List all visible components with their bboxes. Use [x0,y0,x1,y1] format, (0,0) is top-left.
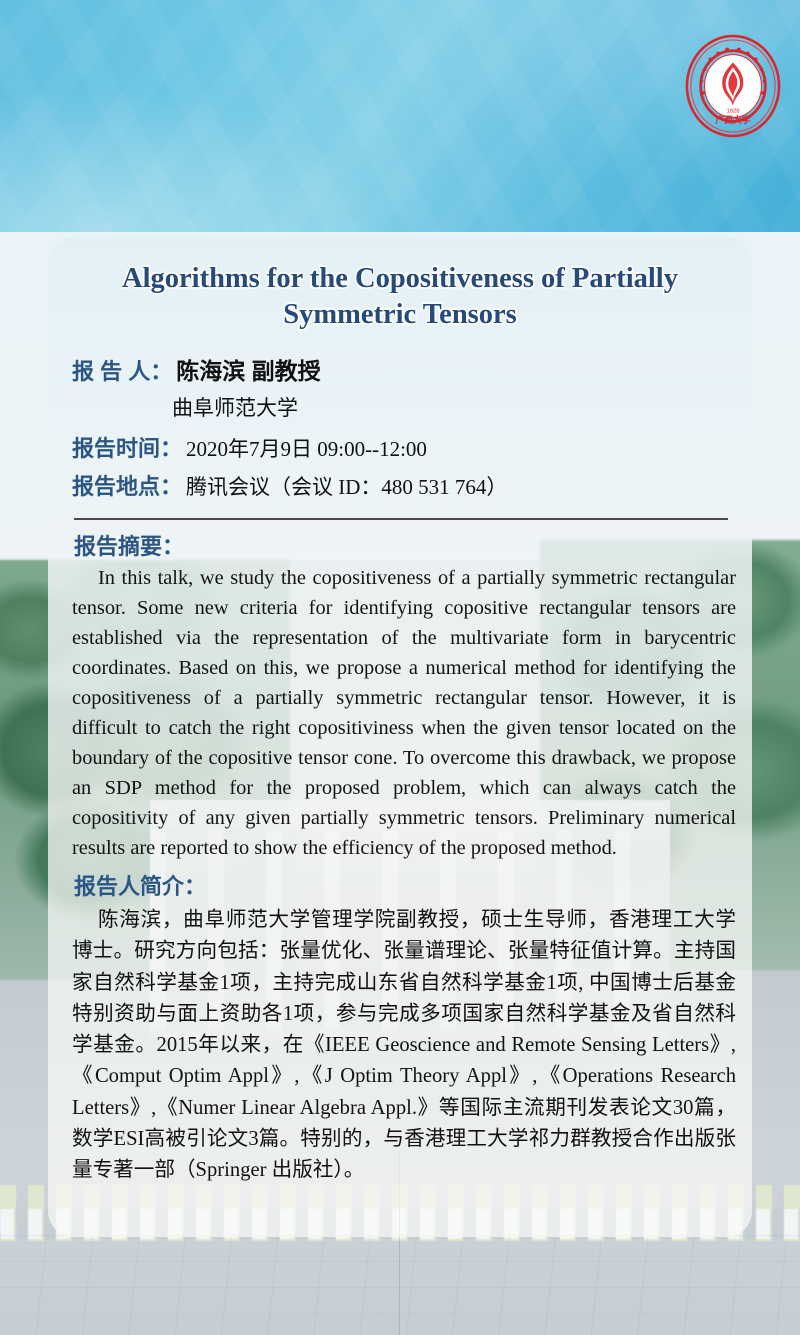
section-divider [74,518,728,520]
time-label: 报告时间： [72,431,182,463]
svg-text:1928: 1928 [726,108,740,114]
speaker-row: 报 告 人： 陈海滨 副教授 [72,352,736,386]
affiliation-row: 曲阜师范大学 [72,392,736,422]
abstract-heading: 报告摘要： [74,529,184,561]
bio-text: 陈海滨，曲阜师范大学管理学院副教授，硕士生导师，香港理工大学博士。研究方向包括：… [72,905,736,1187]
speaker-name: 陈海滨 副教授 [176,352,320,386]
svg-text:广西大学: 广西大学 [715,114,750,125]
header-banner [0,0,800,232]
place-label: 报告地点： [72,469,182,501]
place-row: 报告地点： 腾讯会议（会议 ID：480 531 764） [72,469,736,501]
header-texture [0,0,800,232]
speaker-affiliation: 曲阜师范大学 [172,392,298,422]
abstract-text: In this talk, we study the copositivenes… [72,564,736,864]
time-value: 2020年7月9日 09:00--12:00 [186,433,427,463]
place-value: 腾讯会议（会议 ID：480 531 764） [186,471,507,501]
paper-title: Algorithms for the Copositiveness of Par… [70,261,730,333]
university-seal-logo: 广西大学 1928 [684,34,782,138]
background-pavement [0,1235,800,1335]
time-row: 报告时间： 2020年7月9日 09:00--12:00 [72,431,736,463]
speaker-label: 报 告 人： [72,354,172,386]
lecture-poster: 广西大学数学与信息科学学院 College of Mathematics and… [0,0,800,1335]
bio-heading: 报告人简介： [74,869,206,901]
content-card: Algorithms for the Copositiveness of Par… [48,237,752,1237]
talk-info-block: 报 告 人： 陈海滨 副教授 曲阜师范大学 报告时间： 2020年7月9日 09… [72,352,736,507]
